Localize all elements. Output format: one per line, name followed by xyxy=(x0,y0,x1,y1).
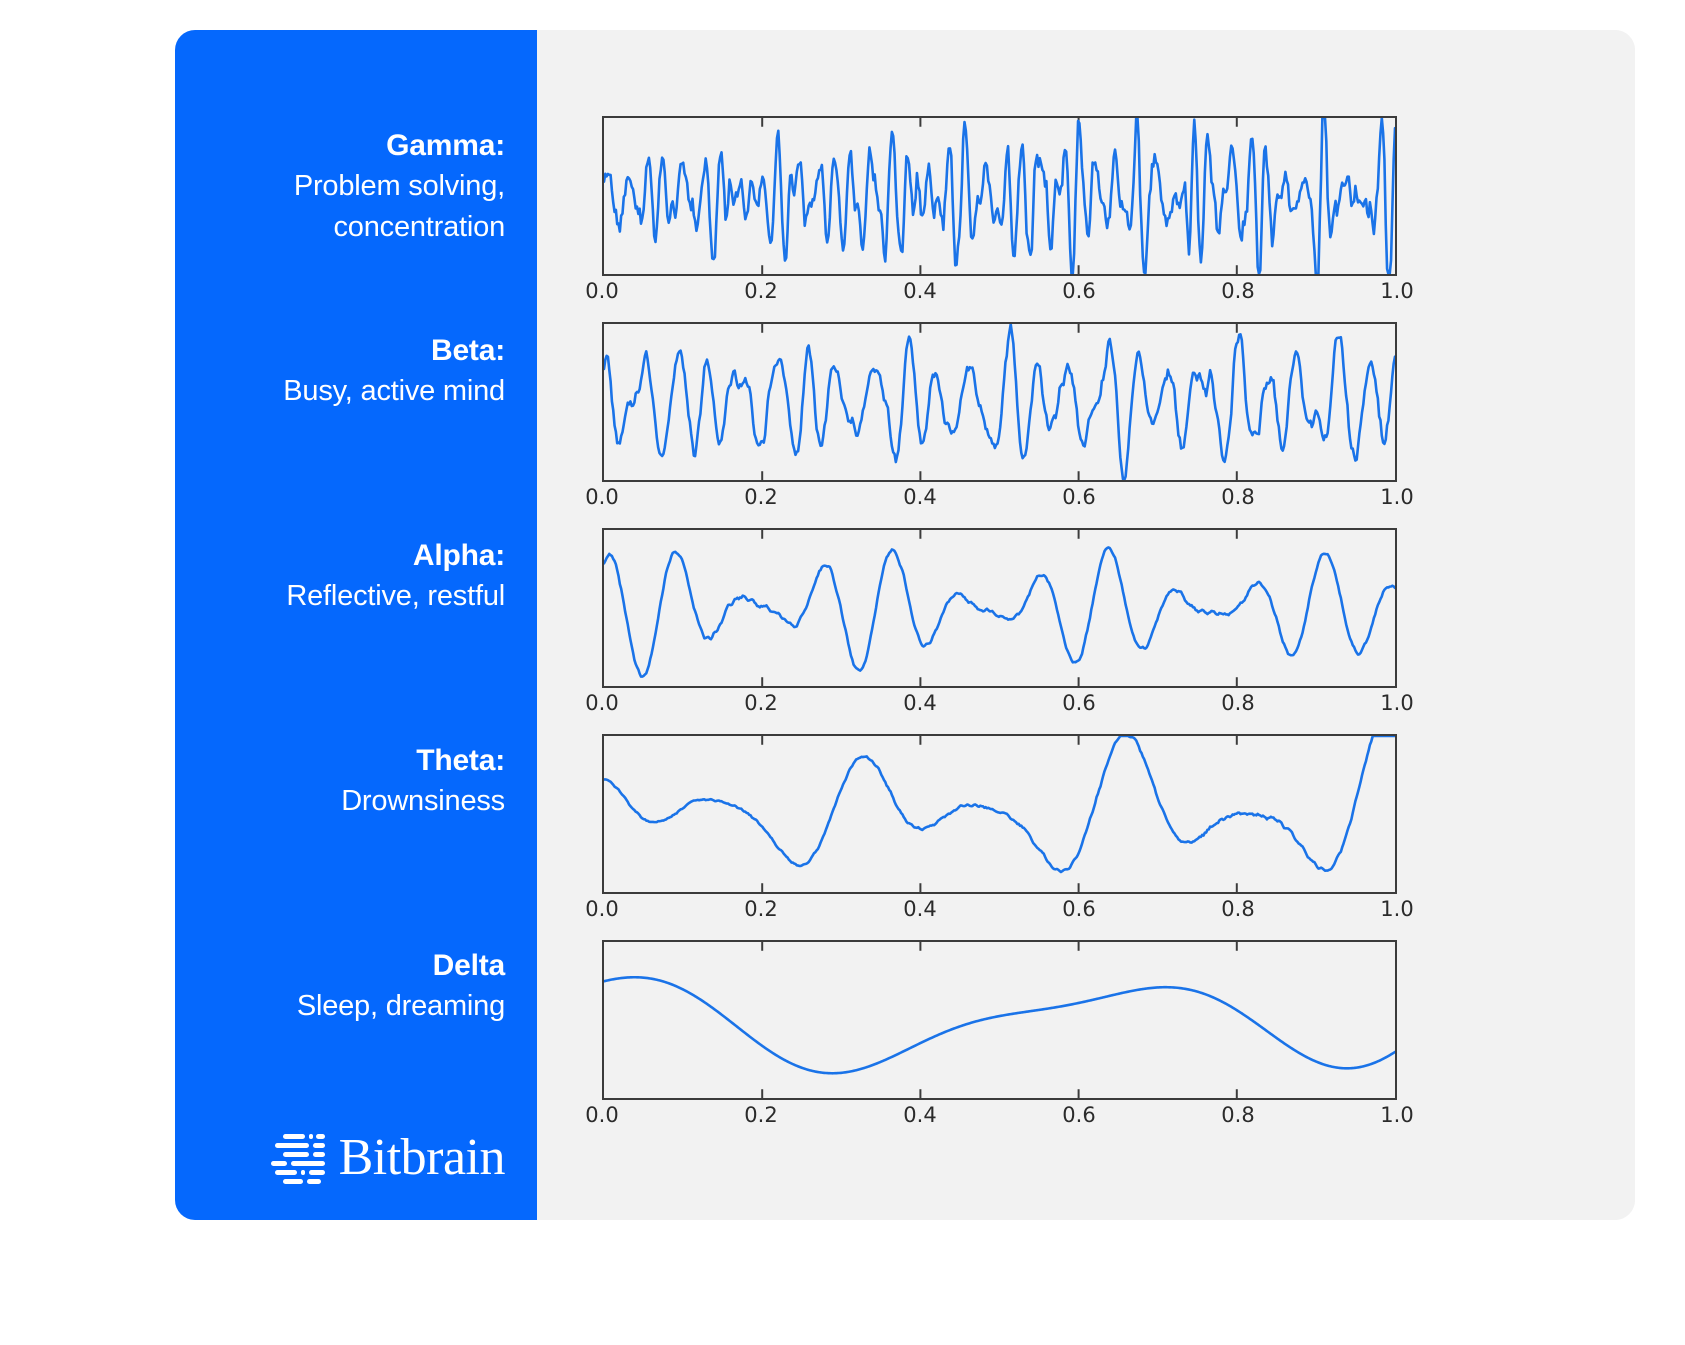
x-tick-label: 0.8 xyxy=(1221,691,1254,715)
x-tick-label: 1.0 xyxy=(1380,485,1413,509)
x-tick-label: 0.2 xyxy=(744,279,777,303)
band-desc-delta-line1: Sleep, dreaming xyxy=(175,986,505,1027)
plot-frame-beta xyxy=(602,322,1397,482)
band-name-delta: Delta xyxy=(175,945,505,986)
waveform-svg-gamma xyxy=(604,118,1395,274)
xaxis-ticks-beta: 0.00.20.40.60.81.0 xyxy=(602,485,1397,511)
band-desc-gamma-line1: Problem solving, xyxy=(175,166,505,207)
waveform-panel: 0.00.20.40.60.81.0 0.00.20.40.60.81.0 0.… xyxy=(537,30,1635,1220)
band-desc-gamma-line2: concentration xyxy=(175,207,505,248)
x-tick-label: 1.0 xyxy=(1380,279,1413,303)
legend-item-theta: Theta: Drownsiness xyxy=(175,740,537,945)
x-tick-label: 0.4 xyxy=(903,279,936,303)
x-tick-label: 0.6 xyxy=(1062,691,1095,715)
x-tick-label: 0.6 xyxy=(1062,485,1095,509)
x-tick-label: 0.0 xyxy=(585,485,618,509)
xaxis-ticks-alpha: 0.00.20.40.60.81.0 xyxy=(602,691,1397,717)
infographic-card: Gamma: Problem solving, concentration Be… xyxy=(175,30,1635,1220)
band-name-gamma: Gamma: xyxy=(175,125,505,166)
x-tick-label: 0.4 xyxy=(903,485,936,509)
x-tick-label: 0.8 xyxy=(1221,897,1254,921)
x-tick-label: 0.6 xyxy=(1062,279,1095,303)
waveform-svg-beta xyxy=(604,324,1395,480)
x-tick-label: 0.4 xyxy=(903,897,936,921)
x-tick-label: 0.6 xyxy=(1062,1103,1095,1127)
plot-beta: 0.00.20.40.60.81.0 xyxy=(602,322,1397,482)
brand-logo: Bitbrain xyxy=(269,1132,505,1184)
plot-alpha: 0.00.20.40.60.81.0 xyxy=(602,528,1397,688)
x-tick-label: 0.2 xyxy=(744,1103,777,1127)
x-tick-label: 0.0 xyxy=(585,897,618,921)
plot-frame-delta xyxy=(602,940,1397,1100)
x-tick-label: 1.0 xyxy=(1380,691,1413,715)
plot-frame-theta xyxy=(602,734,1397,894)
brand-name: Bitbrain xyxy=(339,1132,505,1184)
plot-frame-alpha xyxy=(602,528,1397,688)
x-tick-label: 0.8 xyxy=(1221,485,1254,509)
plot-gamma: 0.00.20.40.60.81.0 xyxy=(602,116,1397,276)
legend-item-alpha: Alpha: Reflective, restful xyxy=(175,535,537,740)
band-desc-beta-line1: Busy, active mind xyxy=(175,371,505,412)
x-tick-label: 0.0 xyxy=(585,279,618,303)
band-desc-theta-line1: Drownsiness xyxy=(175,781,505,822)
x-tick-label: 1.0 xyxy=(1380,1103,1413,1127)
x-tick-label: 0.6 xyxy=(1062,897,1095,921)
band-desc-alpha-line1: Reflective, restful xyxy=(175,576,505,617)
x-tick-label: 0.2 xyxy=(744,897,777,921)
plot-theta: 0.00.20.40.60.81.0 xyxy=(602,734,1397,894)
x-tick-label: 0.0 xyxy=(585,1103,618,1127)
x-tick-label: 0.4 xyxy=(903,691,936,715)
legend-item-gamma: Gamma: Problem solving, concentration xyxy=(175,125,537,330)
band-legend-panel: Gamma: Problem solving, concentration Be… xyxy=(175,30,537,1220)
band-name-beta: Beta: xyxy=(175,330,505,371)
waveform-svg-alpha xyxy=(604,530,1395,686)
legend-item-delta: Delta Sleep, dreaming xyxy=(175,945,537,1150)
x-tick-label: 0.8 xyxy=(1221,1103,1254,1127)
x-tick-label: 1.0 xyxy=(1380,897,1413,921)
x-tick-label: 0.2 xyxy=(744,691,777,715)
band-name-theta: Theta: xyxy=(175,740,505,781)
bitbrain-lines-icon xyxy=(269,1132,325,1184)
x-tick-label: 0.8 xyxy=(1221,279,1254,303)
x-tick-label: 0.0 xyxy=(585,691,618,715)
plot-delta: 0.00.20.40.60.81.0 xyxy=(602,940,1397,1100)
x-tick-label: 0.4 xyxy=(903,1103,936,1127)
xaxis-ticks-gamma: 0.00.20.40.60.81.0 xyxy=(602,279,1397,305)
waveform-svg-delta xyxy=(604,942,1395,1098)
band-name-alpha: Alpha: xyxy=(175,535,505,576)
plot-frame-gamma xyxy=(602,116,1397,276)
x-tick-label: 0.2 xyxy=(744,485,777,509)
waveform-svg-theta xyxy=(604,736,1395,892)
xaxis-ticks-theta: 0.00.20.40.60.81.0 xyxy=(602,897,1397,923)
legend-item-beta: Beta: Busy, active mind xyxy=(175,330,537,535)
xaxis-ticks-delta: 0.00.20.40.60.81.0 xyxy=(602,1103,1397,1129)
